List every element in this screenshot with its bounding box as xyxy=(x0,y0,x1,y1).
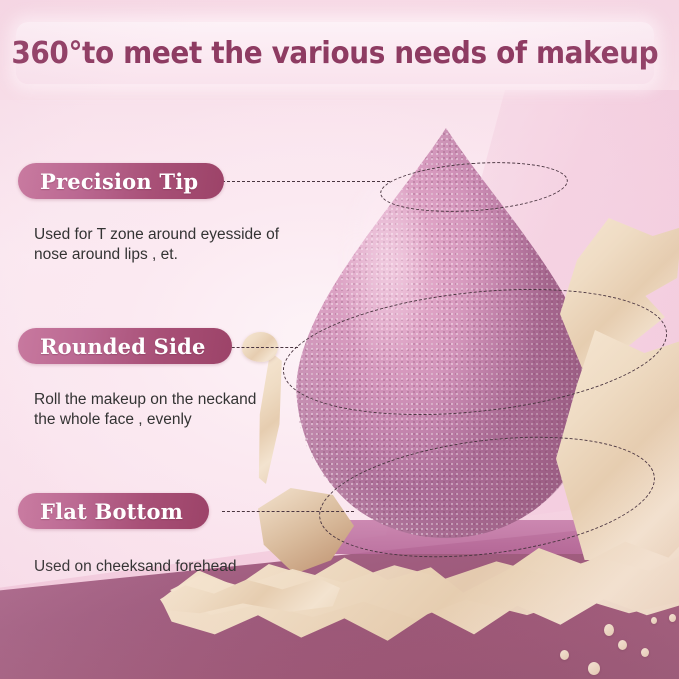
cream-droplet xyxy=(669,614,676,622)
feature-label: Rounded Side xyxy=(40,334,206,359)
feature-flat-bottom: Flat Bottom Used on cheeksand forehead xyxy=(18,493,237,577)
feature-description: Used on cheeksand forehead xyxy=(34,557,237,577)
cream-droplet xyxy=(618,640,627,650)
cream-droplet xyxy=(560,650,569,660)
feature-badge-precision-tip: Precision Tip xyxy=(18,163,224,199)
cream-droplet xyxy=(604,624,614,636)
feature-precision-tip: Precision Tip Used for T zone around eye… xyxy=(18,163,279,265)
feature-description: Used for T zone around eyesside of nose … xyxy=(34,225,279,265)
feature-description: Roll the makeup on the neckand the whole… xyxy=(34,390,256,430)
feature-badge-flat-bottom: Flat Bottom xyxy=(18,493,209,529)
feature-rounded-side: Rounded Side Roll the makeup on the neck… xyxy=(18,328,256,430)
product-infographic: 360°to meet the various needs of makeup … xyxy=(0,0,679,679)
cream-droplet xyxy=(588,662,600,675)
feature-label: Precision Tip xyxy=(40,169,198,194)
cream-droplet xyxy=(651,617,657,624)
header-banner: 360°to meet the various needs of makeup xyxy=(16,22,654,84)
leader-line-flat-bottom xyxy=(222,511,354,512)
cream-droplet xyxy=(641,648,649,657)
feature-badge-rounded-side: Rounded Side xyxy=(18,328,232,364)
feature-label: Flat Bottom xyxy=(40,499,183,524)
page-title: 360°to meet the various needs of makeup xyxy=(12,36,659,71)
